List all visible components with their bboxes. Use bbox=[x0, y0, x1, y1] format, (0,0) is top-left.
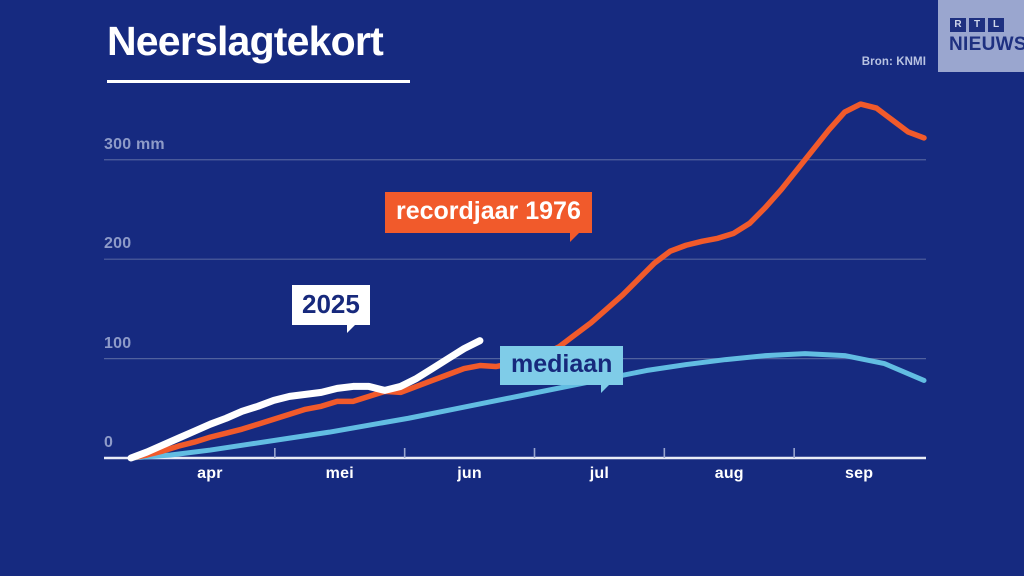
callout-tail-icon bbox=[347, 324, 356, 333]
callout-recordjaar-1976-label: recordjaar 1976 bbox=[396, 197, 581, 225]
callout-mediaan: mediaan bbox=[500, 346, 623, 385]
data-series-group bbox=[131, 104, 924, 458]
series-line-recordjaar-1976 bbox=[131, 104, 924, 458]
x-tick-label: sep bbox=[845, 465, 873, 483]
x-tick-label: apr bbox=[197, 465, 223, 483]
x-tick-label: jun bbox=[457, 465, 482, 483]
line-chart: 0100200300 mm aprmeijunjulaugsep bbox=[0, 0, 1024, 576]
y-tick-label: 200 bbox=[104, 235, 131, 253]
callout-tail-icon bbox=[570, 232, 580, 242]
callout-2025-label: 2025 bbox=[302, 289, 360, 319]
y-tick-label: 0 bbox=[104, 434, 113, 452]
callout-recordjaar-1976: recordjaar 1976 bbox=[385, 192, 592, 233]
x-tick-label: mei bbox=[326, 465, 354, 483]
y-tick-label: 100 bbox=[104, 335, 131, 353]
callout-tail-icon bbox=[601, 384, 610, 393]
chart-page: Neerslagtekort Bron: KNMI R T L NIEUWS 0… bbox=[0, 0, 1024, 576]
callout-2025: 2025 bbox=[292, 285, 370, 325]
x-axis-ticks bbox=[275, 448, 794, 458]
callout-mediaan-label: mediaan bbox=[511, 350, 612, 378]
chart-canvas bbox=[0, 0, 1024, 576]
x-tick-label: jul bbox=[590, 465, 609, 483]
y-tick-label: 300 mm bbox=[104, 136, 165, 154]
x-tick-label: aug bbox=[715, 465, 744, 483]
